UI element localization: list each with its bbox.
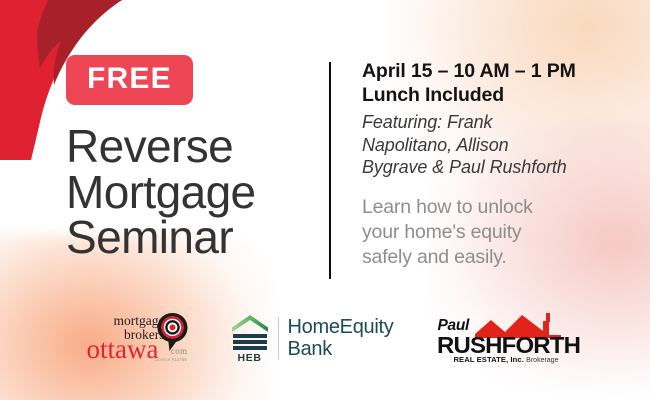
right-content-column: April 15 – 10 AM – 1 PM Lunch Included F… — [362, 60, 634, 270]
page-title: Reverse Mortgage Seminar — [66, 124, 316, 261]
target-center-dot — [169, 324, 175, 330]
prf-subtitle-secondary: Brokerage — [526, 357, 558, 364]
heb-separator-rule — [278, 317, 279, 359]
mbo-wordmark: ottawa — [87, 336, 159, 363]
heb-mark: HEB — [231, 314, 269, 363]
event-datetime: April 15 – 10 AM – 1 PM Lunch Included — [362, 60, 634, 107]
free-badge: FREE — [66, 55, 193, 105]
vertical-divider — [329, 62, 331, 279]
left-content-column: FREE Reverse Mortgage Seminar — [66, 55, 316, 261]
sponsor-logo-row: mortgage brokers ottawa com Licence #127… — [0, 303, 650, 373]
logo-homeequity-bank: HEB HomeEquity Bank — [231, 314, 394, 363]
event-speakers: Featuring: Frank Napolitano, Allison Byg… — [362, 111, 634, 179]
logo-mortgage-brokers-ottawa: mortgage brokers ottawa com Licence #127… — [89, 310, 187, 366]
logo-paul-rushforth: Paul RUSHFORTH REAL ESTATE, Inc. Brokera… — [437, 310, 561, 366]
event-tagline: Learn how to unlock your home's equity s… — [362, 195, 634, 270]
prf-subtitle: REAL ESTATE, Inc. Brokerage — [453, 355, 558, 364]
heb-abbreviation: HEB — [231, 352, 269, 364]
chevron-roof — [232, 315, 268, 332]
house-chevron-bars-icon — [231, 314, 269, 352]
mbo-licence-text: Licence #12759 — [154, 357, 187, 362]
mbo-domain: com — [171, 346, 188, 356]
bar-2 — [233, 340, 267, 344]
chimney — [546, 313, 550, 322]
prf-subtitle-main: REAL ESTATE, Inc. — [453, 355, 523, 364]
bar-3 — [233, 346, 267, 350]
promotional-banner: FREE Reverse Mortgage Seminar April 15 –… — [0, 0, 650, 400]
bar-1 — [233, 334, 267, 338]
heb-wordmark: HomeEquity Bank — [288, 316, 394, 361]
